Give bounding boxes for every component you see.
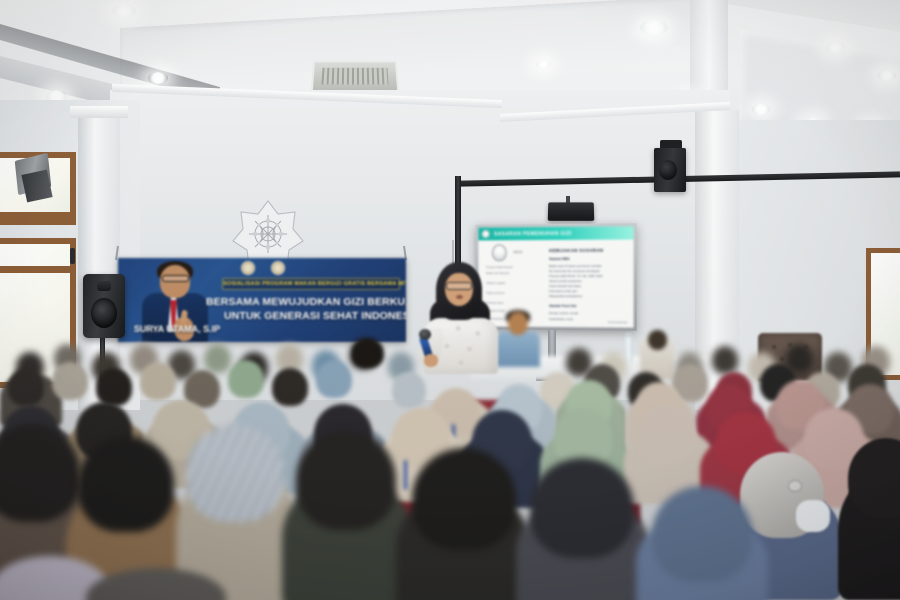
- slide-bullet: Masyarakat prasejahtera: [549, 294, 582, 298]
- slide-bullet: Santri pondok pesantren: [549, 279, 582, 283]
- slide-emblem-icon: [492, 244, 507, 261]
- microphone-head-icon: [419, 329, 431, 340]
- slide-column-label: MAJU: [514, 250, 523, 254]
- audience-head-hijab: [272, 368, 308, 406]
- slide-bullet: Kelompok rentan gizi: [549, 289, 577, 293]
- downlight-icon: [148, 72, 168, 84]
- banner-headline-line1: BERSAMA MEWUJUDKAN GIZI BERKUALITAS: [206, 296, 402, 308]
- downlight-icon: [536, 60, 551, 69]
- wall-speaker: [654, 148, 686, 192]
- foreground-head-hijab: [412, 448, 516, 550]
- slide-section2-title: Standar Porsi Gizi: [549, 304, 576, 308]
- pa-speaker-floor: [83, 274, 125, 338]
- speaker-tweeter-icon: [97, 281, 111, 291]
- projector-mount: [548, 202, 595, 220]
- banner-headline-small: SOSIALISASI PROGRAM MAKAN BERGIZI GRATIS…: [222, 278, 400, 290]
- foreground-head: [652, 486, 752, 582]
- audience-head-hijab: [52, 362, 88, 400]
- slide-bullet: Ibu hamil dan ibu menyusui di wilayah: [549, 269, 600, 273]
- window-mullion: [0, 216, 76, 225]
- slide-header-bar: SASARAN PEMENUHAN GIZI: [478, 226, 633, 240]
- logo-emblem-left-icon: [241, 261, 255, 275]
- speaker-cone-icon: [659, 160, 677, 180]
- downlight-icon: [878, 70, 896, 81]
- audience-head-hijab: [392, 372, 426, 408]
- slide-bullet: Peserta didik PAUD, TK, SD, SMP, SMA: [549, 274, 603, 278]
- audience-head-hijab: [638, 406, 696, 466]
- audience-head-hijab: [228, 360, 264, 398]
- logo-emblem-right-icon: [271, 261, 285, 275]
- slide-subtitle: Sasaran MBG: [549, 257, 570, 261]
- slide-section2-line: Karbohidrat, serat: [549, 317, 573, 321]
- attendee-head: [648, 330, 667, 350]
- downlight-icon: [752, 104, 770, 115]
- face-mask-icon: [796, 500, 830, 532]
- presenter-mouth: [456, 295, 463, 299]
- eyeglasses-icon: [788, 480, 802, 492]
- pillar-capital: [70, 106, 128, 118]
- slide-bullet: Balita usia 0-5 tahun penerima manfaat: [549, 264, 601, 268]
- presenter-hand: [424, 354, 438, 367]
- foreground-head-hijab: [296, 430, 396, 530]
- slide-signature: Kementerian: [608, 320, 628, 324]
- audience-head-hijab: [316, 360, 352, 398]
- audience-head-songkok: [352, 338, 384, 368]
- downlight-icon: [826, 42, 845, 53]
- audience-head-hijab: [140, 362, 176, 400]
- audience-head: [204, 344, 231, 373]
- slide-section-title: KEBIJAKAN SASARAN: [549, 248, 603, 253]
- foreground-head-hijab: [78, 436, 174, 532]
- window-latch-icon: [70, 248, 75, 264]
- foreground-head-hijab: [530, 458, 634, 558]
- slide-bullet: Anak sekolah luar biasa: [549, 284, 581, 288]
- downlight-icon: [640, 20, 668, 35]
- banner-logo-row: [241, 260, 303, 276]
- audience-head: [712, 346, 738, 374]
- slide-logo-icon: [481, 230, 490, 239]
- banner-person-name: SURYA UTAMA, S.IP: [124, 324, 230, 334]
- slide-section2-line: Energi, protein, lemak: [549, 311, 578, 315]
- speaker-cone-icon: [91, 298, 117, 328]
- eyeglasses-icon: [446, 282, 472, 290]
- ac-grill: [321, 68, 388, 85]
- window-mullion: [0, 266, 76, 273]
- audience-head: [8, 368, 44, 406]
- foreground-head-striped: [186, 424, 284, 522]
- ceiling-ac-unit: [311, 61, 400, 93]
- downlight-icon: [112, 4, 136, 18]
- photo-scene: SOSIALISASI PROGRAM MAKAN BERGIZI GRATIS…: [0, 0, 900, 600]
- presenter-speaking: [416, 262, 504, 372]
- window-ac-vent-body: [21, 170, 52, 203]
- audience-head-hijab: [96, 368, 132, 406]
- slide-header-title: SASARAN PEMENUHAN GIZI: [494, 230, 572, 237]
- banner-headline-line2: UNTUK GENERASI SEHAT INDONESIA: [224, 310, 402, 322]
- banner-backdrop: SOSIALISASI PROGRAM MAKAN BERGIZI GRATIS…: [118, 258, 406, 342]
